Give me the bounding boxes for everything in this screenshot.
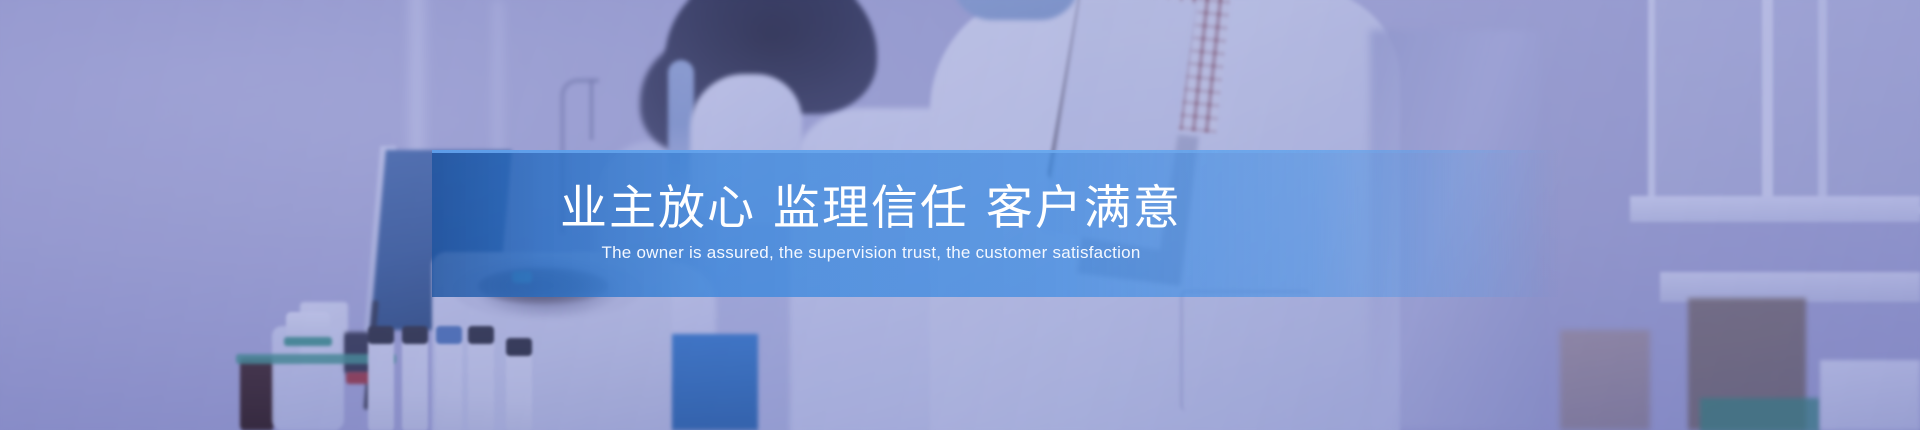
banner-headline: 业主放心 监理信任 客户满意	[560, 184, 1182, 234]
banner-subheadline: The owner is assured, the supervision tr…	[601, 243, 1140, 263]
headline-block: 业主放心 监理信任 客户满意 The owner is assured, the…	[432, 150, 1560, 297]
hero-banner: 业主放心 监理信任 客户满意 The owner is assured, the…	[0, 0, 1920, 430]
